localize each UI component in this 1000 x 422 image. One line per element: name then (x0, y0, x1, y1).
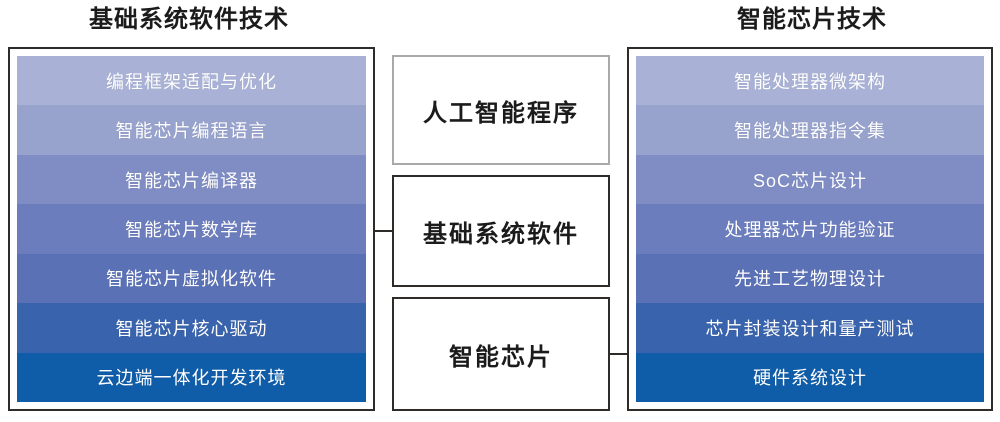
right-column-title: 智能芯片技术 (624, 3, 1000, 37)
right-panel-item-label: SoC芯片设计 (753, 167, 867, 193)
right-panel-item-2[interactable]: SoC芯片设计 (636, 155, 984, 204)
left-panel-item-6[interactable]: 云边端一体化开发环境 (17, 353, 366, 402)
left-panel-item-1[interactable]: 智能芯片编程语言 (17, 105, 366, 154)
right-panel-stack: 智能处理器微架构智能处理器指令集SoC芯片设计处理器芯片功能验证先进工艺物理设计… (636, 56, 984, 402)
left-panel-item-2[interactable]: 智能芯片编译器 (17, 155, 366, 204)
right-panel-item-1[interactable]: 智能处理器指令集 (636, 105, 984, 154)
left-panel-item-label: 智能芯片数学库 (125, 216, 258, 242)
right-panel-item-label: 芯片封装设计和量产测试 (706, 315, 915, 341)
left-panel-item-label: 智能芯片核心驱动 (116, 315, 268, 341)
middle-box-smart-chip[interactable]: 智能芯片 (392, 297, 610, 411)
right-panel-item-0[interactable]: 智能处理器微架构 (636, 56, 984, 105)
left-column-title: 基础系统软件技术 (0, 3, 378, 37)
left-panel-item-0[interactable]: 编程框架适配与优化 (17, 56, 366, 105)
right-panel-item-label: 硬件系统设计 (753, 364, 867, 390)
left-panel-item-label: 智能芯片编程语言 (116, 117, 268, 143)
left-panel-item-label: 智能芯片编译器 (125, 167, 258, 193)
left-panel-item-label: 编程框架适配与优化 (106, 68, 277, 94)
right-panel-item-label: 处理器芯片功能验证 (725, 216, 896, 242)
right-panel-item-label: 先进工艺物理设计 (734, 265, 886, 291)
left-panel-item-label: 智能芯片虚拟化软件 (106, 265, 277, 291)
middle-box-foundation-system-software[interactable]: 基础系统软件 (392, 175, 610, 287)
right-panel-item-5[interactable]: 芯片封装设计和量产测试 (636, 303, 984, 352)
diagram-canvas: 基础系统软件技术 编程框架适配与优化智能芯片编程语言智能芯片编译器智能芯片数学库… (0, 0, 1000, 422)
left-panel-item-4[interactable]: 智能芯片虚拟化软件 (17, 254, 366, 303)
left-panel-item-3[interactable]: 智能芯片数学库 (17, 204, 366, 253)
left-panel-item-label: 云边端一体化开发环境 (97, 364, 287, 390)
right-panel: 智能处理器微架构智能处理器指令集SoC芯片设计处理器芯片功能验证先进工艺物理设计… (627, 47, 993, 411)
left-panel-item-5[interactable]: 智能芯片核心驱动 (17, 303, 366, 352)
left-panel-stack: 编程框架适配与优化智能芯片编程语言智能芯片编译器智能芯片数学库智能芯片虚拟化软件… (17, 56, 366, 402)
right-panel-item-3[interactable]: 处理器芯片功能验证 (636, 204, 984, 253)
right-panel-item-label: 智能处理器微架构 (734, 68, 886, 94)
connector-smart-chip-to-right-panel (608, 353, 629, 355)
left-panel: 编程框架适配与优化智能芯片编程语言智能芯片编译器智能芯片数学库智能芯片虚拟化软件… (8, 47, 375, 411)
connector-left-panel-to-foundation-software (375, 230, 394, 232)
right-panel-item-6[interactable]: 硬件系统设计 (636, 353, 984, 402)
right-panel-item-4[interactable]: 先进工艺物理设计 (636, 254, 984, 303)
middle-box-ai-program[interactable]: 人工智能程序 (392, 55, 610, 165)
right-panel-item-label: 智能处理器指令集 (734, 117, 886, 143)
